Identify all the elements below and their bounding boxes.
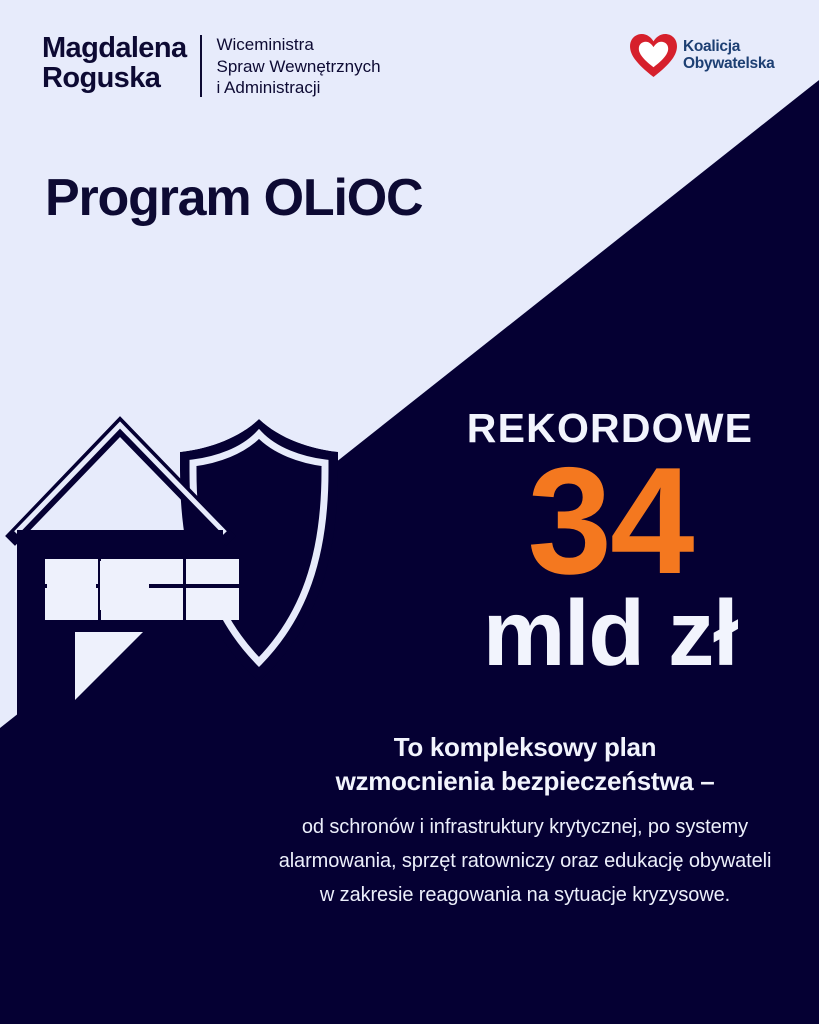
logo-wordmark: Koalicja Obywatelska (683, 39, 774, 72)
copy-body-line-1: od schronów i infrastruktury krytycznej,… (255, 810, 795, 844)
hero-block: REKORDOWE 34 mld zł (420, 405, 800, 679)
copy-body-line-2: alarmowania, sprzęt ratowniczy oraz eduk… (255, 844, 795, 878)
minister-role: Wiceministra Spraw Wewnętrznych i Admini… (216, 33, 380, 99)
body-copy: To kompleksowy plan wzmocnienia bezpiecz… (255, 730, 795, 912)
header: Magdalena Roguska Wiceministra Spraw Wew… (42, 33, 381, 99)
name-line-1: Magdalena (42, 33, 186, 63)
hero-unit: mld zł (420, 587, 800, 679)
logo-line-1: Koalicja (683, 39, 774, 56)
copy-lead-line-2: wzmocnienia bezpieczeństwa – (255, 764, 795, 798)
hero-number: 34 (420, 457, 800, 585)
poster-canvas: Magdalena Roguska Wiceministra Spraw Wew… (0, 0, 819, 1024)
minister-name: Magdalena Roguska (42, 33, 186, 93)
copy-body-line-3: w zakresie reagowania na sytuacje kryzys… (255, 878, 795, 912)
role-line-2: Spraw Wewnętrznych (216, 56, 380, 78)
role-line-1: Wiceministra (216, 34, 380, 56)
copy-body: od schronów i infrastruktury krytycznej,… (255, 810, 795, 912)
logo-line-2: Obywatelska (683, 56, 774, 73)
role-line-3: i Administracji (216, 77, 380, 99)
copy-lead: To kompleksowy plan wzmocnienia bezpiecz… (255, 730, 795, 798)
copy-lead-line-1: To kompleksowy plan (255, 730, 795, 764)
header-divider (200, 35, 202, 97)
page-title: Program OLiOC (45, 168, 422, 228)
koalicja-obywatelska-logo: Koalicja Obywatelska (629, 33, 774, 78)
name-line-2: Roguska (42, 63, 186, 93)
heart-icon (629, 33, 678, 78)
